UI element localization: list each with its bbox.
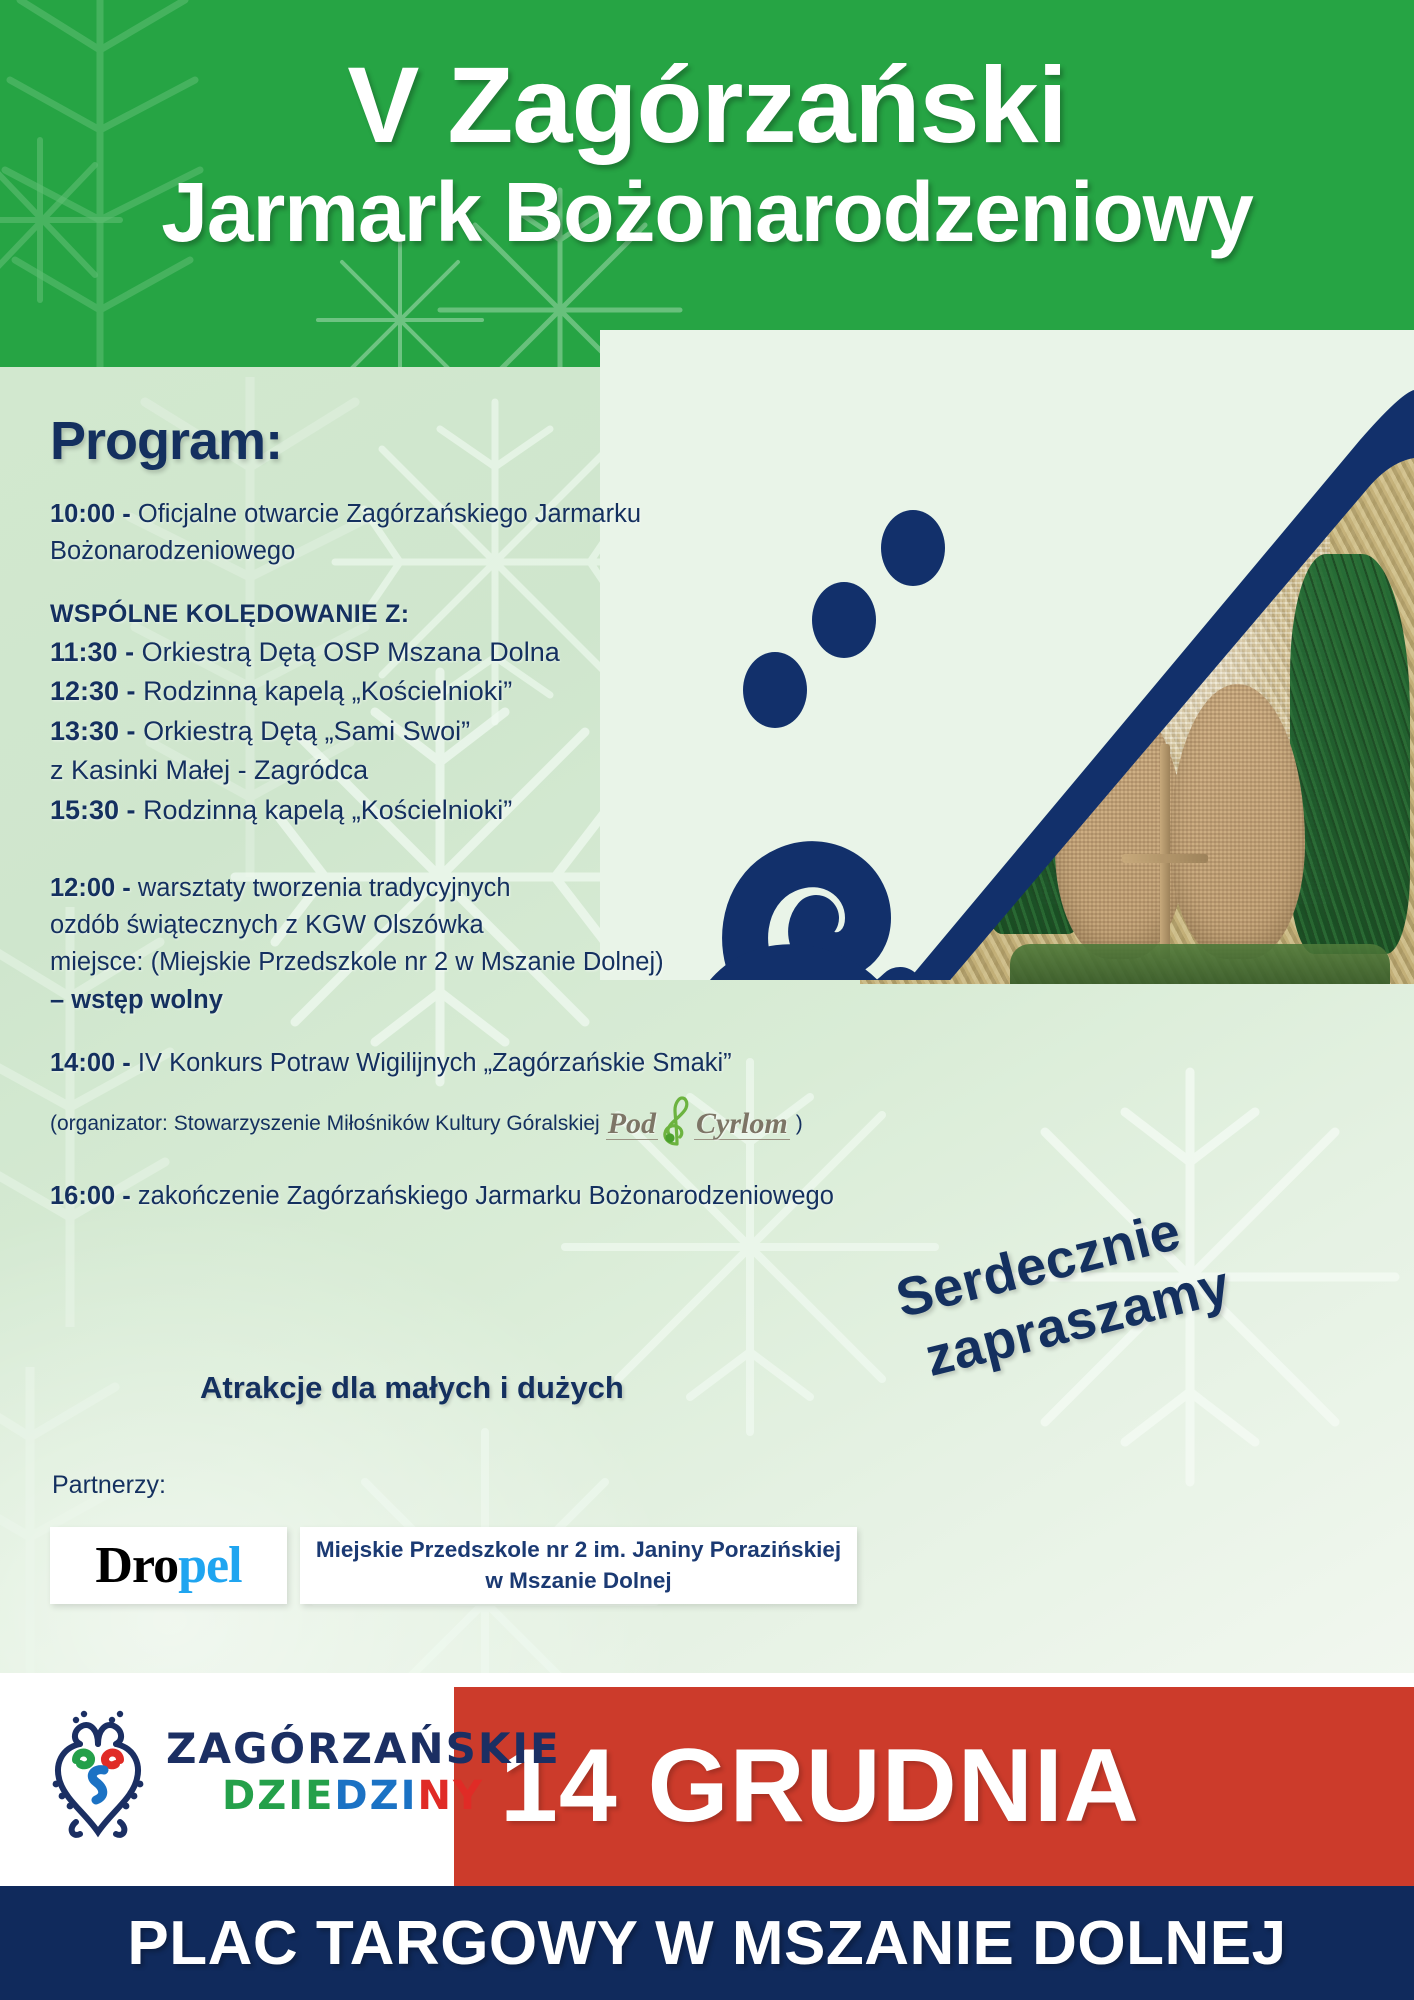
program-entry: 14:00 - IV Konkurs Potraw Wigilijnych „Z… <box>50 1045 810 1082</box>
zd-line1: ZAGÓRZAŃSKIE <box>166 1728 561 1770</box>
program-entry-text: zakończenie Zagórzańskiego Jarmarku Bożo… <box>138 1182 834 1210</box>
program-entry: miejsce: (Miejskie Przedszkole nr 2 w Ms… <box>50 944 810 981</box>
zd-line2-red: NY <box>418 1773 484 1819</box>
treble-clef-icon <box>659 1096 693 1152</box>
attractions-tagline: Atrakcje dla małych i dużych <box>200 1370 624 1406</box>
spacer <box>50 1152 810 1178</box>
zd-line2: DZIEDZINY <box>166 1776 561 1816</box>
preschool-line1: Miejskie Przedszkole nr 2 im. Janiny Por… <box>316 1535 841 1565</box>
program-entry-time: 13:30 - <box>50 716 143 746</box>
event-location: PLAC TARGOWY W MSZANIE DOLNEJ <box>127 1908 1286 1979</box>
location-banner: PLAC TARGOWY W MSZANIE DOLNEJ <box>0 1886 1414 2000</box>
program-entry-text: Oficjalne otwarcie Zagórzańskiego Jarmar… <box>138 500 641 528</box>
program-entry: 16:00 - zakończenie Zagórzańskiego Jarma… <box>50 1178 810 1215</box>
program-entry-time: 10:00 - <box>50 500 138 528</box>
program-entry-text: – wstęp wolny <box>50 986 223 1014</box>
program-entry-text: ozdób świątecznych z KGW Olszówka <box>50 911 484 939</box>
program-entry-text: z Kasinki Małej - Zagródca <box>50 755 368 785</box>
date-banner: 14 GRUDNIA <box>454 1687 1414 1886</box>
spacer <box>50 1082 810 1096</box>
event-date: 14 GRUDNIA <box>500 1727 1140 1846</box>
program-entry-time: 12:00 - <box>50 874 138 902</box>
zd-line2-blue: DZI <box>334 1773 417 1819</box>
program-entry-text: Orkiestrą Dętą OSP Mszana Dolna <box>142 637 560 667</box>
zd-wordmark: ZAGÓRZAŃSKIE DZIEDZINY <box>166 1728 561 1816</box>
poster: V Zagórzański Jarmark Bożonarodzeniowy <box>0 0 1414 2000</box>
program-entry: 10:00 - Oficjalne otwarcie Zagórzańskieg… <box>50 496 810 533</box>
zd-line2-green: DZIE <box>222 1773 334 1819</box>
dropel-part2: pel <box>178 1537 241 1594</box>
program-entry: 15:30 - Rodzinną kapelą „Kościelnioki” <box>50 791 810 830</box>
snowflake-decoration <box>0 1367 240 1673</box>
program-entry-time: 11:30 - <box>50 637 142 667</box>
program-entry: z Kasinki Małej - Zagródca <box>50 751 810 790</box>
organizer-text: (organizator: Stowarzyszenie Miłośników … <box>50 1112 600 1136</box>
program-entry: 12:00 - warsztaty tworzenia tradycyjnych <box>50 870 810 907</box>
poster-title-line1: V Zagórzański <box>0 48 1414 161</box>
program-entry: 12:30 - Rodzinną kapelą „Kościelnioki” <box>50 672 810 711</box>
zagorzanskie-dziedziny-logo: ZAGÓRZAŃSKIE DZIEDZINY <box>46 1704 561 1840</box>
preschool-partner-card: Miejskie Przedszkole nr 2 im. Janiny Por… <box>300 1527 857 1604</box>
dropel-part1: Dro <box>95 1537 178 1594</box>
program-entry: – wstęp wolny <box>50 982 810 1019</box>
program-entry-text: warsztaty tworzenia tradycyjnych <box>138 874 511 902</box>
program-entry: Bożonarodzeniowego <box>50 533 810 570</box>
spacer <box>50 1019 810 1045</box>
program-section: Program: 10:00 - Oficjalne otwarcie Zagó… <box>50 410 810 1215</box>
program-entry-time: 12:30 - <box>50 676 143 706</box>
program-entry: 13:30 - Orkiestrą Dętą „Sami Swoi” <box>50 712 810 751</box>
poster-title-line2: Jarmark Bożonarodzeniowy <box>0 168 1414 256</box>
program-entry-text: Orkiestrą Dętą „Sami Swoi” <box>143 716 470 746</box>
program-entry-text: Bożonarodzeniowego <box>50 537 295 565</box>
spacer <box>50 830 810 870</box>
spacer <box>50 570 810 596</box>
pod-cyrlom-word2: Cyrlom <box>694 1108 790 1141</box>
program-entry-time: 14:00 - <box>50 1049 138 1077</box>
program-entry: ozdób świątecznych z KGW Olszówka <box>50 907 810 944</box>
pod-cyrlom-logo: Pod Cyrlom <box>606 1096 790 1152</box>
partners-label: Partnerzy: <box>52 1471 166 1500</box>
program-entry-text: miejsce: (Miejskie Przedszkole nr 2 w Ms… <box>50 948 664 976</box>
preschool-line2: w Mszanie Dolnej <box>485 1566 671 1596</box>
header-banner: V Zagórzański Jarmark Bożonarodzeniowy <box>0 0 1414 367</box>
program-entry: 11:30 - Orkiestrą Dętą OSP Mszana Dolna <box>50 633 810 672</box>
dropel-wordmark: Dropel <box>95 1540 241 1592</box>
dropel-logo: Dropel <box>50 1527 287 1604</box>
program-entry-text: Rodzinną kapelą „Kościelnioki” <box>143 676 512 706</box>
program-entry-text: Rodzinną kapelą „Kościelnioki” <box>143 795 512 825</box>
pod-cyrlom-word1: Pod <box>606 1108 658 1141</box>
program-entry-text: IV Konkurs Potraw Wigilijnych „Zagórzańs… <box>138 1049 732 1077</box>
program-section-heading: WSPÓLNE KOLĘDOWANIE Z: <box>50 596 810 633</box>
folk-heart-icon <box>46 1704 150 1840</box>
organizer-close-paren: ) <box>796 1112 803 1136</box>
program-heading: Program: <box>50 410 810 472</box>
program-entry-time: 16:00 - <box>50 1182 138 1210</box>
organizer-line: (organizator: Stowarzyszenie Miłośników … <box>50 1096 810 1152</box>
program-entry-time: 15:30 - <box>50 795 143 825</box>
